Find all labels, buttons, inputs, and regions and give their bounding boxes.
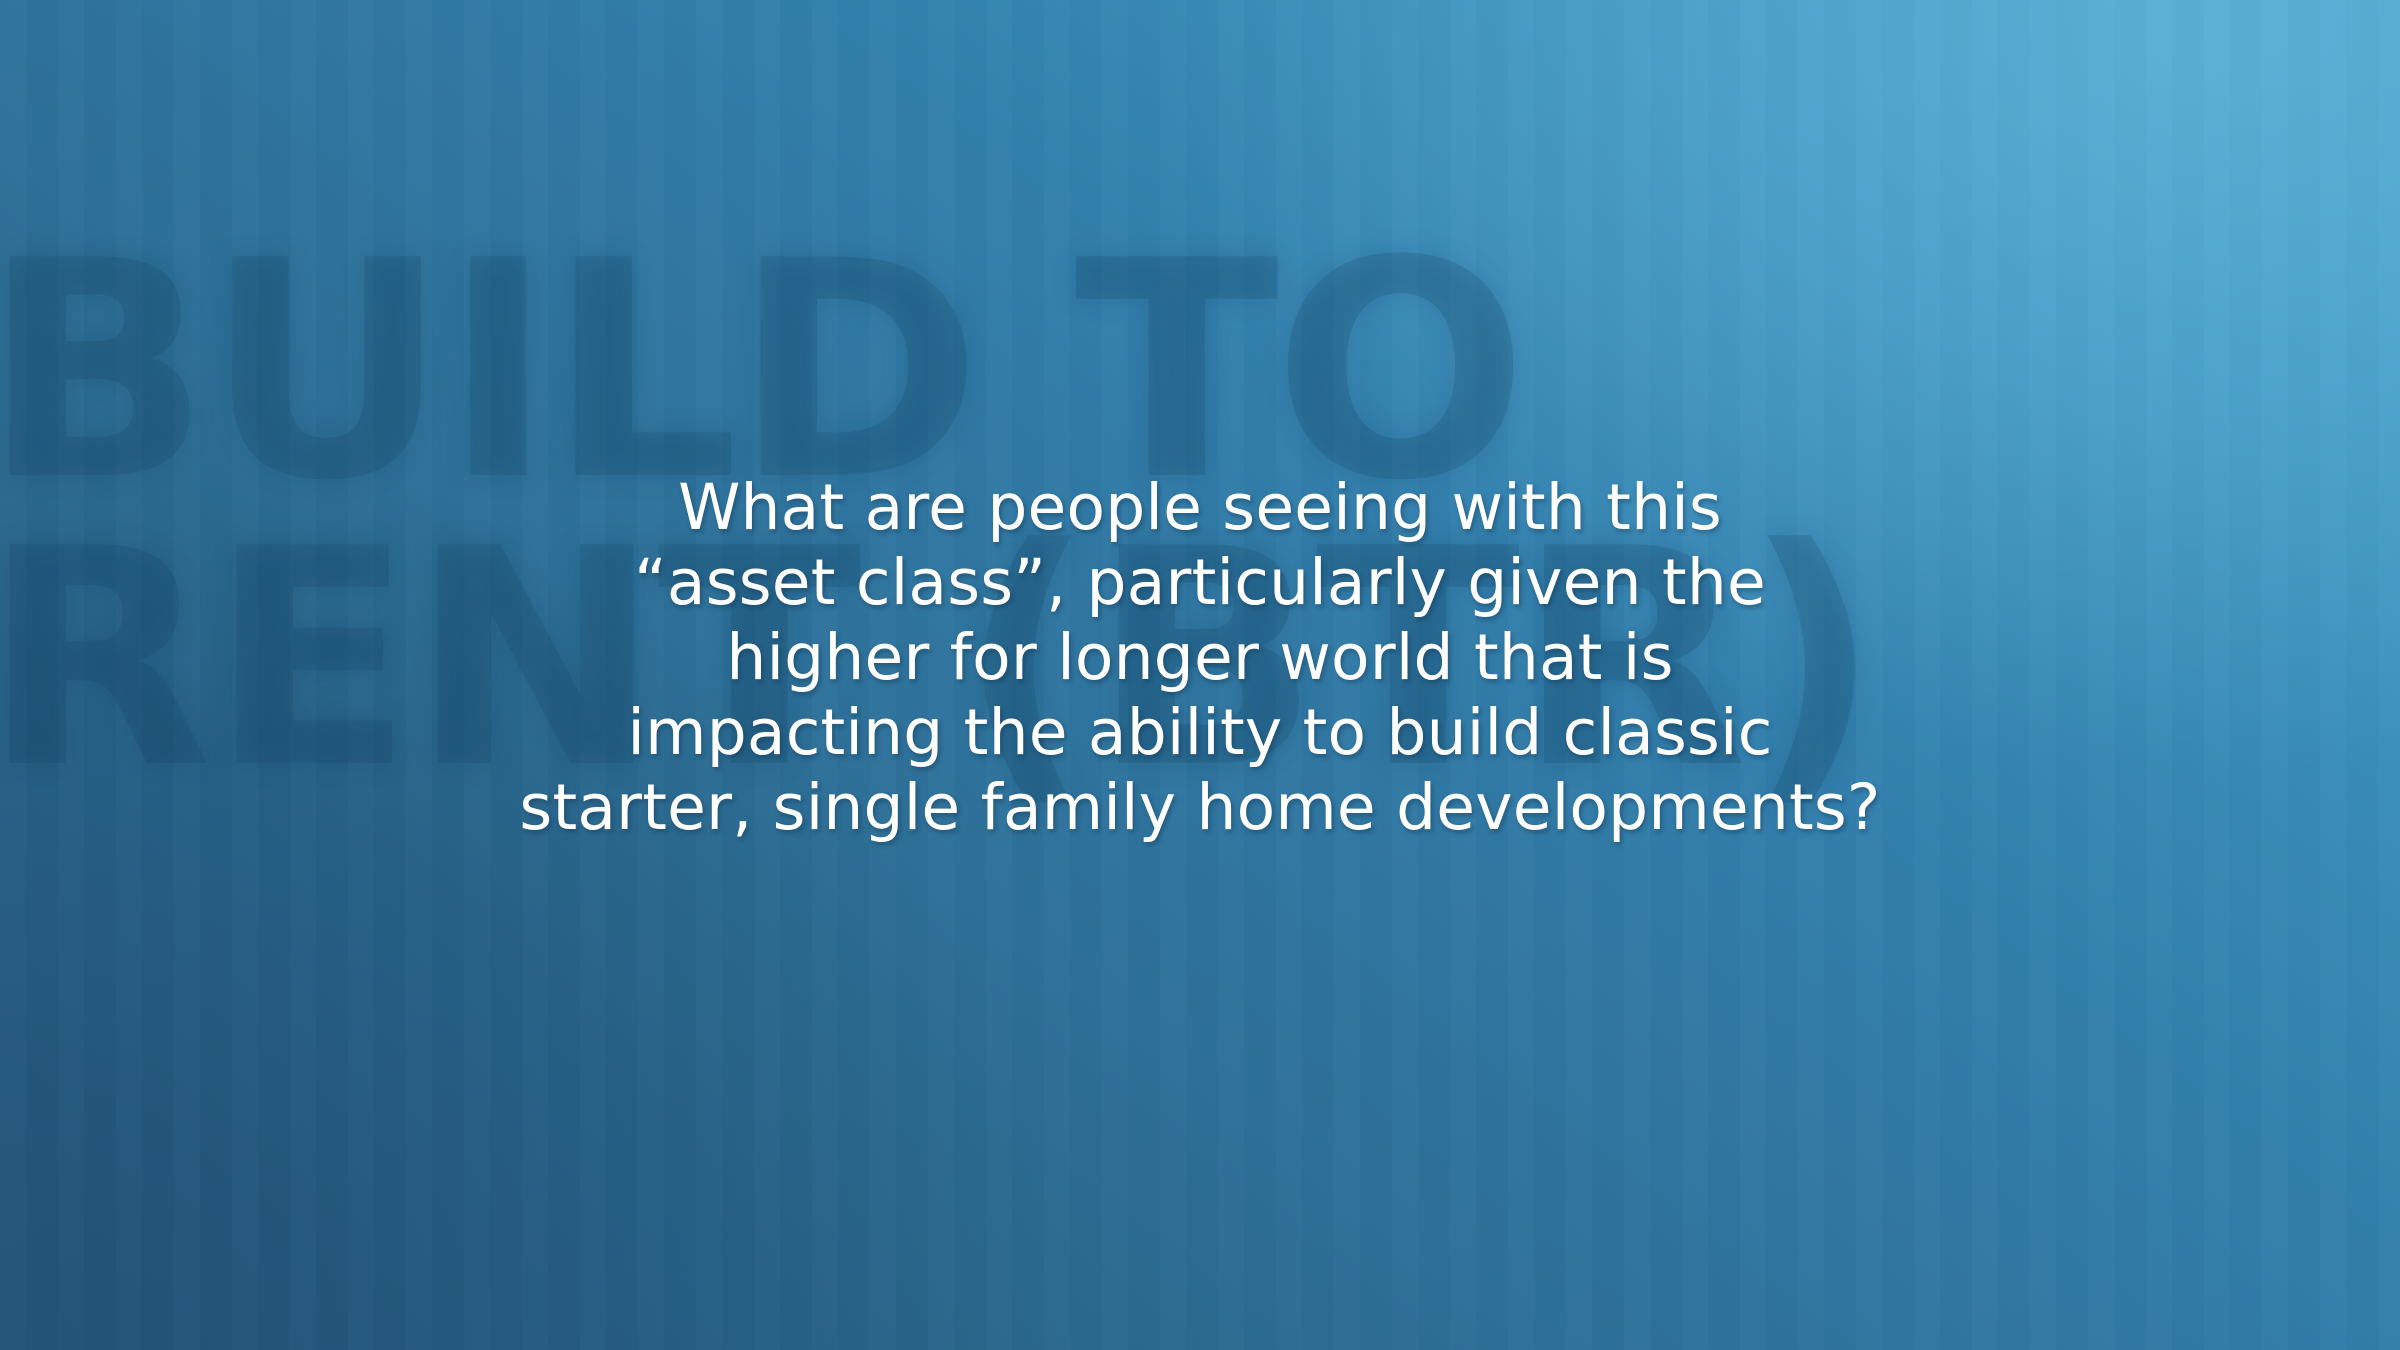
question-text-block: What are people seeing with this “asset … <box>0 470 2400 845</box>
presentation-slide: BUILD TO RENT (BTR) What are people seei… <box>0 0 2400 1350</box>
question-line-5: starter, single family home developments… <box>110 770 2290 845</box>
question-line-2: “asset class”, particularly given the <box>110 545 2290 620</box>
question-line-1: What are people seeing with this <box>110 470 2290 545</box>
question-line-4: impacting the ability to build classic <box>110 695 2290 770</box>
question-line-3: higher for longer world that is <box>110 620 2290 695</box>
